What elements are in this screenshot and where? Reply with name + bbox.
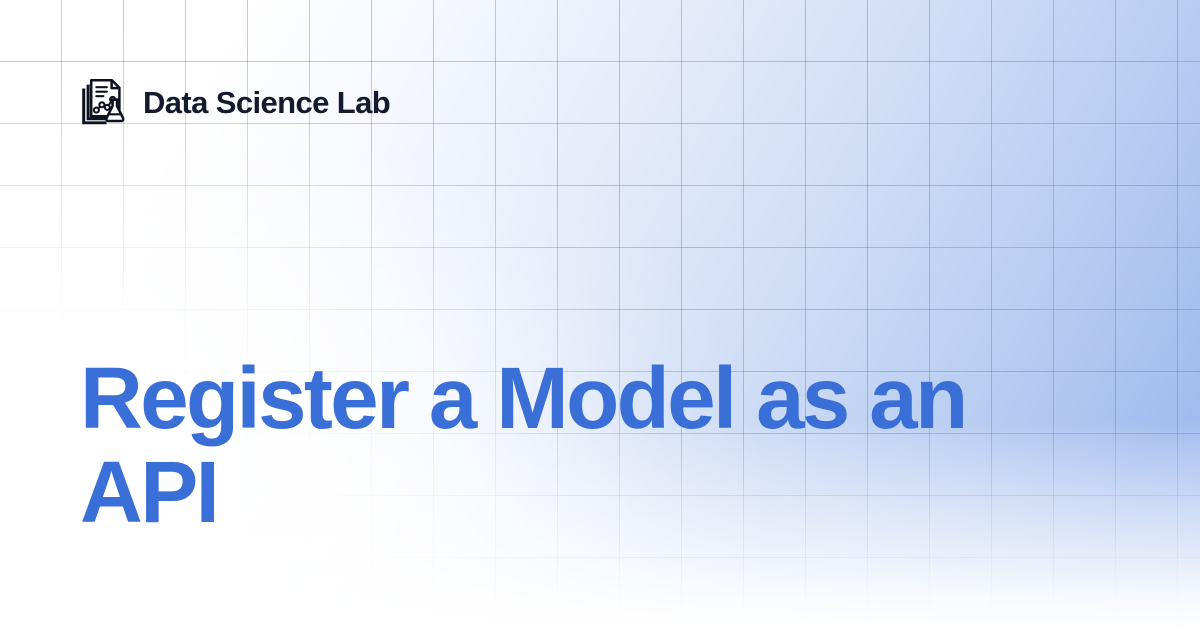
brand: Data Science Lab	[78, 78, 390, 126]
document-chart-flask-icon	[78, 78, 126, 126]
og-card: Data Science Lab Register a Model as an …	[0, 0, 1200, 630]
brand-name: Data Science Lab	[143, 87, 390, 118]
page-title: Register a Model as an API	[80, 352, 1110, 540]
